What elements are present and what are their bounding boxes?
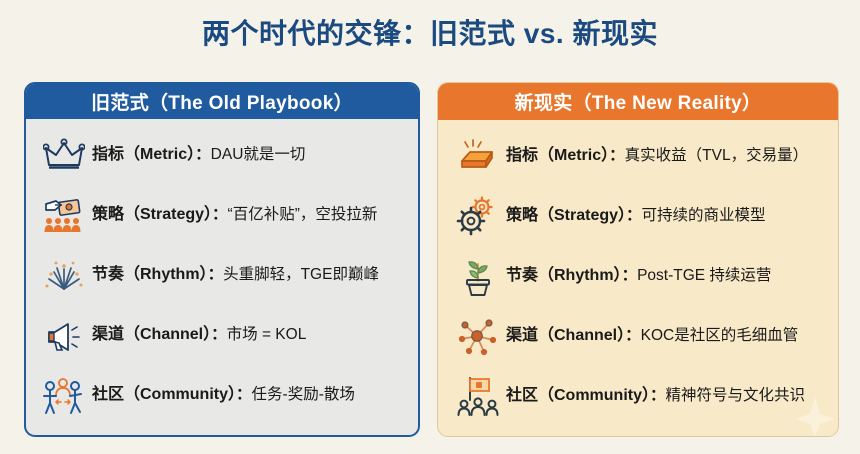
row-separator: ： (650, 387, 666, 404)
row-community-new: 社区（Community）：精神符号与文化共识 (438, 366, 838, 426)
megaphone-icon (40, 312, 88, 358)
panel-new-reality: 新现实（The New Reality） 指标（Metri (437, 82, 839, 437)
row-strategy-new-text: 策略（Strategy）：可持续的商业模型 (506, 206, 766, 226)
row-community-old-text: 社区（Community）：任务-奖励-散场 (92, 385, 355, 405)
row-strategy-old: 策略（Strategy）：“百亿补贴”，空投拉新 (26, 185, 418, 245)
row-value: KOC是社区的毛细血管 (641, 327, 799, 344)
people-leaving-icon (40, 372, 88, 418)
panel-old-header: 旧范式（The Old Playbook） (26, 84, 418, 119)
row-metric-old-text: 指标（Metric）：DAU就是一切 (92, 145, 305, 165)
gears-icon (454, 193, 502, 239)
row-label: 策略（Strategy） (506, 207, 626, 224)
row-value: 真实收益（TVL，交易量） (625, 147, 808, 164)
row-value: Post-TGE 持续运营 (637, 267, 771, 284)
row-community-new-text: 社区（Community）：精神符号与文化共识 (506, 386, 805, 406)
row-channel-new: 渠道（Channel）：KOC是社区的毛细血管 (438, 306, 838, 366)
row-value: 精神符号与文化共识 (666, 387, 806, 404)
row-separator: ： (625, 327, 641, 344)
row-label: 策略（Strategy） (92, 206, 212, 223)
row-rhythm-old-text: 节奏（Rhythm）：头重脚轻，TGE即巅峰 (92, 265, 379, 285)
comparison-panels: 旧范式（The Old Playbook） 指标（Metric）：DAU就是一切 (0, 82, 860, 442)
row-rhythm-new: 节奏（Rhythm）：Post-TGE 持续运营 (438, 246, 838, 306)
row-label: 节奏（Rhythm） (92, 266, 208, 283)
row-label: 渠道（Channel） (92, 326, 211, 343)
row-channel-old: 渠道（Channel）：市场 = KOL (26, 305, 418, 365)
page-title: 两个时代的交锋：旧范式 vs. 新现实 (0, 0, 860, 51)
row-separator: ： (208, 266, 224, 283)
row-label: 指标（Metric） (92, 146, 195, 163)
flag-community-icon (454, 373, 502, 419)
row-separator: ： (212, 206, 228, 223)
row-rhythm-new-text: 节奏（Rhythm）：Post-TGE 持续运营 (506, 266, 771, 286)
row-value: DAU就是一切 (211, 146, 306, 163)
firework-icon (40, 252, 88, 298)
row-channel-new-text: 渠道（Channel）：KOC是社区的毛细血管 (506, 326, 798, 346)
row-metric-new: 指标（Metric）：真实收益（TVL，交易量） (438, 126, 838, 186)
potted-plant-icon (454, 253, 502, 299)
row-label: 节奏（Rhythm） (506, 267, 622, 284)
row-value: “百亿补贴”，空投拉新 (228, 206, 378, 223)
row-value: 市场 = KOL (227, 326, 307, 343)
row-separator: ： (236, 386, 252, 403)
row-community-old: 社区（Community）：任务-奖励-散场 (26, 365, 418, 425)
row-separator: ： (626, 207, 642, 224)
row-value: 头重脚轻，TGE即巅峰 (223, 266, 379, 283)
row-metric-new-text: 指标（Metric）：真实收益（TVL，交易量） (506, 146, 808, 166)
row-label: 社区（Community） (506, 387, 650, 404)
row-separator: ： (622, 267, 638, 284)
row-rhythm-old: 节奏（Rhythm）：头重脚轻，TGE即巅峰 (26, 245, 418, 305)
row-metric-old: 指标（Metric）：DAU就是一切 (26, 125, 418, 185)
row-value: 任务-奖励-散场 (252, 386, 355, 403)
row-label: 渠道（Channel） (506, 327, 625, 344)
row-separator: ： (211, 326, 227, 343)
row-label: 社区（Community） (92, 386, 236, 403)
panel-old-body: 指标（Metric）：DAU就是一切 (26, 119, 418, 435)
network-nodes-icon (454, 313, 502, 359)
row-label: 指标（Metric） (506, 147, 609, 164)
crown-icon (40, 132, 88, 178)
panel-new-body: 指标（Metric）：真实收益（TVL，交易量） (438, 120, 838, 436)
row-separator: ： (195, 146, 211, 163)
panel-new-header: 新现实（The New Reality） (438, 83, 838, 120)
panel-old-playbook: 旧范式（The Old Playbook） 指标（Metric）：DAU就是一切 (24, 82, 420, 437)
row-strategy-new: 策略（Strategy）：可持续的商业模型 (438, 186, 838, 246)
gold-bar-icon (454, 133, 502, 179)
row-channel-old-text: 渠道（Channel）：市场 = KOL (92, 325, 306, 345)
row-separator: ： (609, 147, 625, 164)
hand-money-crowd-icon (40, 192, 88, 238)
row-value: 可持续的商业模型 (642, 207, 766, 224)
row-strategy-old-text: 策略（Strategy）：“百亿补贴”，空投拉新 (92, 205, 377, 225)
